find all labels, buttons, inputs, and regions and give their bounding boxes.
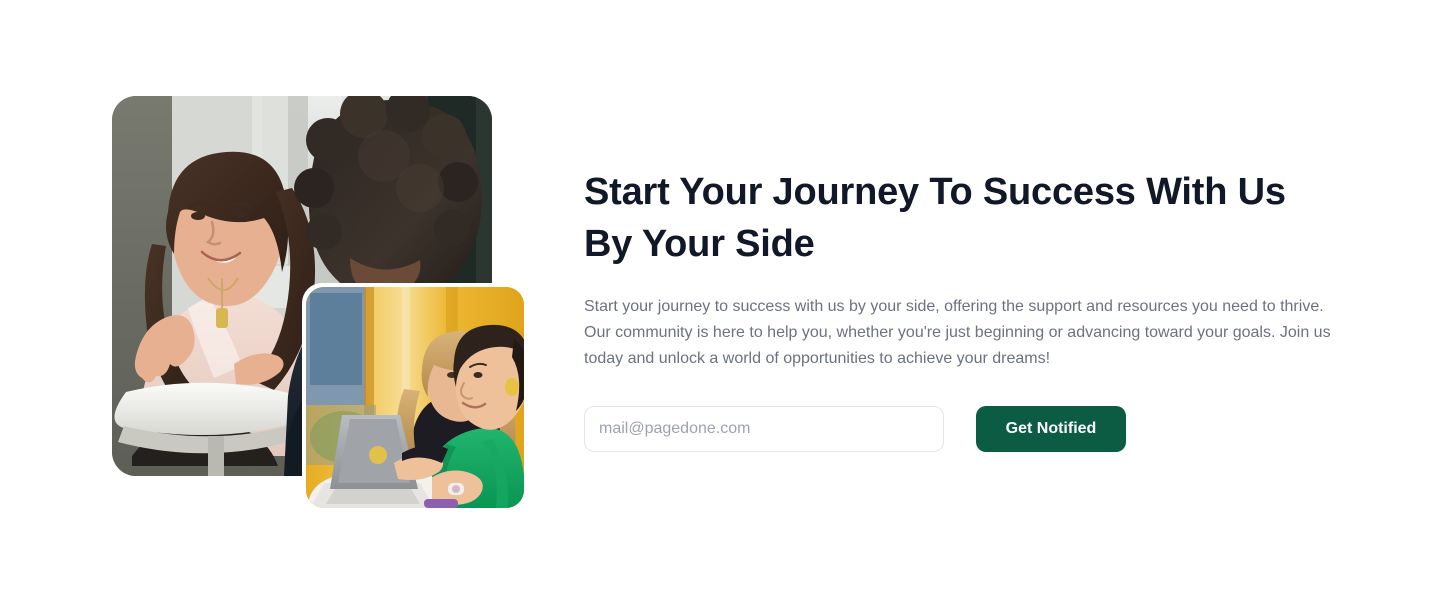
hero-description: Start your journey to success with us by… bbox=[584, 294, 1332, 372]
hero-media-collage bbox=[112, 96, 524, 508]
page-title: Start Your Journey To Success With Us By… bbox=[584, 166, 1324, 270]
secondary-photo-illustration bbox=[306, 287, 524, 508]
secondary-photo-frame bbox=[302, 283, 524, 508]
get-notified-button[interactable]: Get Notified bbox=[976, 406, 1126, 452]
secondary-photo bbox=[306, 287, 524, 508]
newsletter-signup-form: Get Notified bbox=[584, 406, 1336, 452]
hero-content: Start Your Journey To Success With Us By… bbox=[584, 166, 1336, 452]
hero-section: Start Your Journey To Success With Us By… bbox=[0, 0, 1440, 608]
email-input[interactable] bbox=[584, 406, 944, 452]
